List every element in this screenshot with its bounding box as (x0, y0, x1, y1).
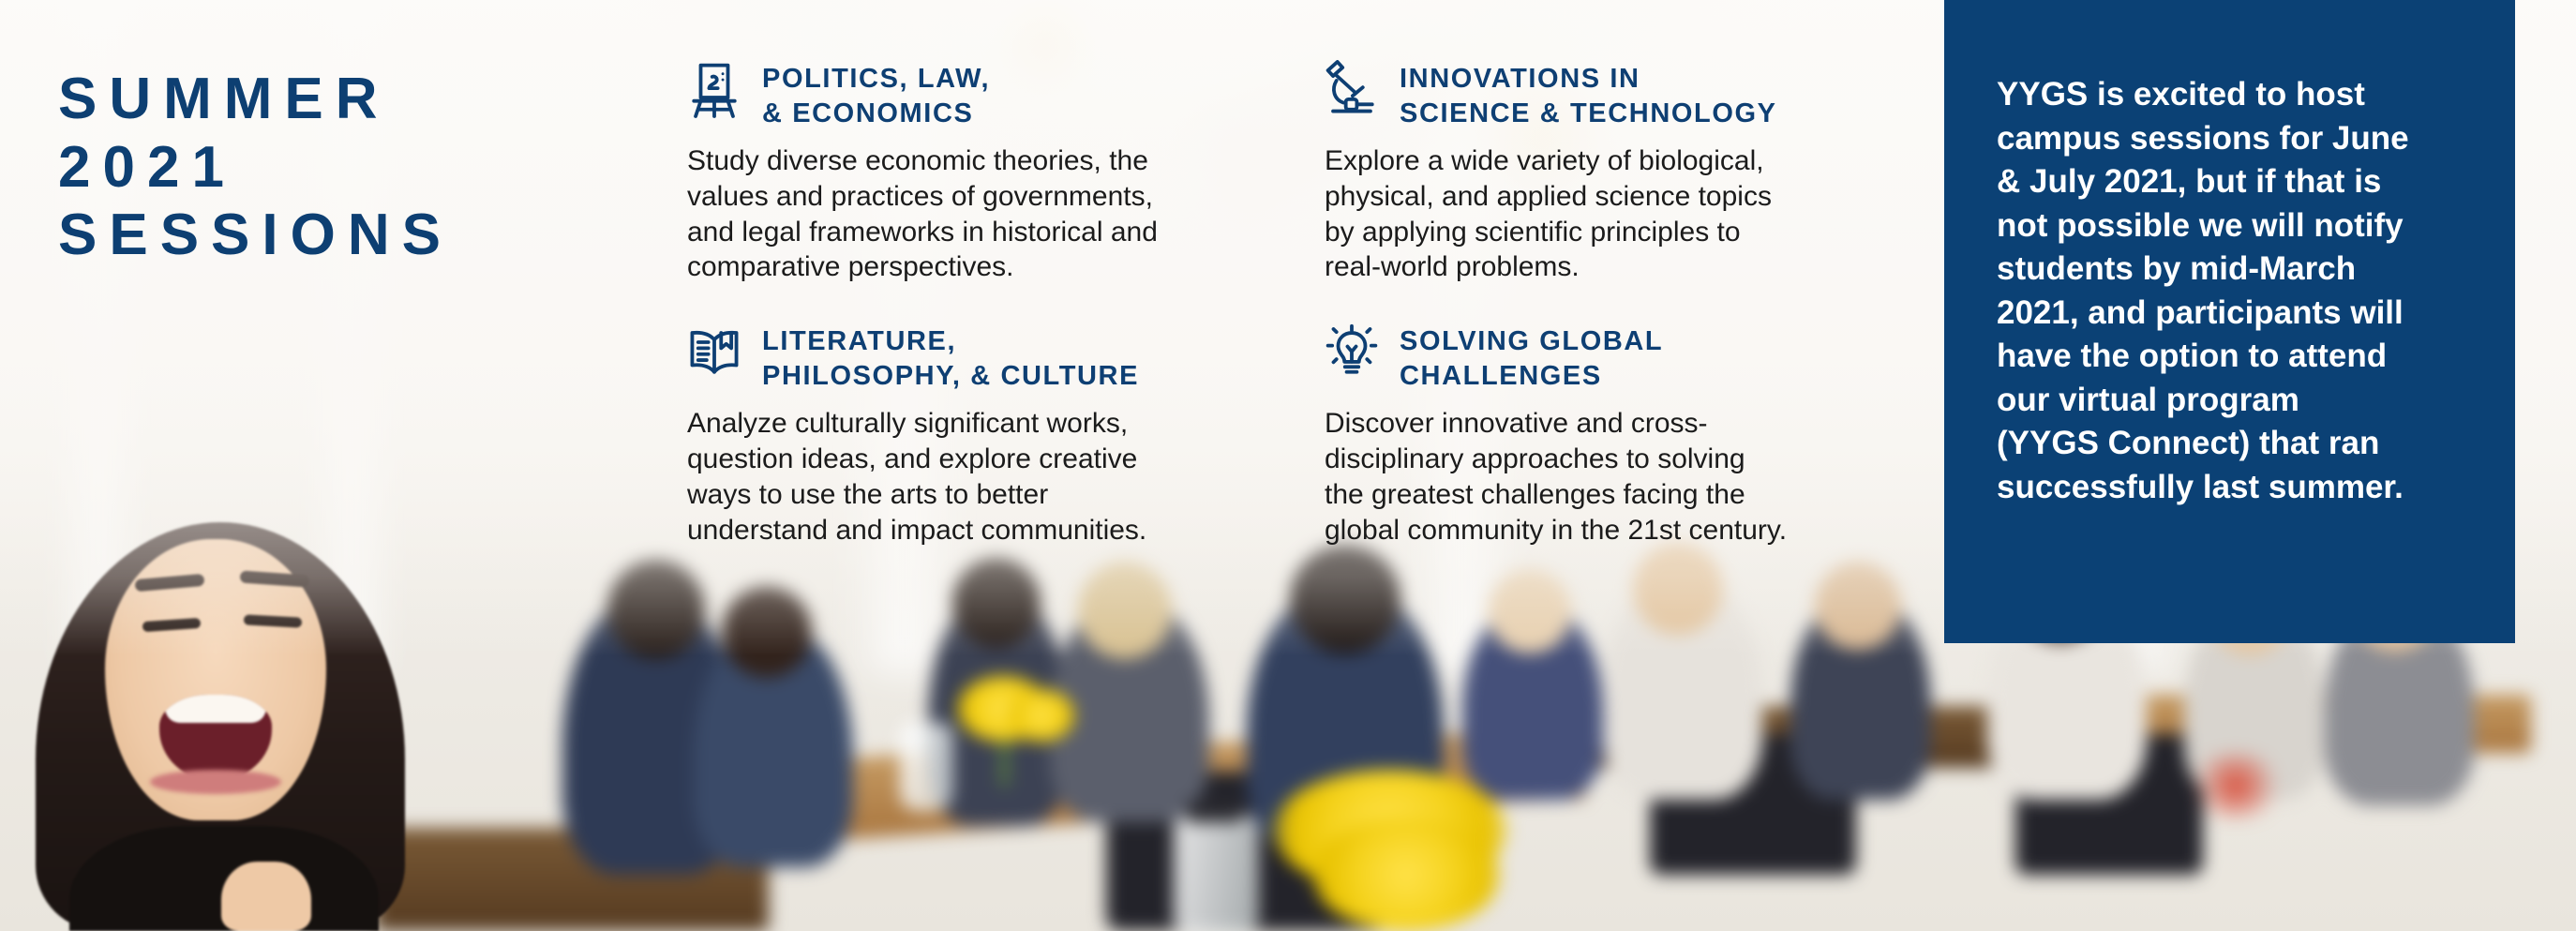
page-title: SUMMER 2021 SESSIONS (58, 66, 621, 270)
notice-line: not possible we will notify (1997, 204, 2466, 248)
card-title: POLITICS, LAW, & ECONOMICS (762, 58, 990, 130)
card-header: POLITICS, LAW, & ECONOMICS (687, 58, 1268, 130)
easel-icon (687, 60, 741, 118)
session-card-innovations-science-technology: INNOVATIONS IN SCIENCE & TECHNOLOGY Expl… (1325, 58, 1906, 285)
summer-sessions-banner: SUMMER 2021 SESSIONS (0, 0, 2576, 931)
card-body-line: and legal frameworks in historical and (687, 215, 1268, 250)
notice-line: students by mid-March (1997, 248, 2466, 292)
card-body-line: global community in the 21st century. (1325, 513, 1906, 548)
notice-line: successfully last summer. (1997, 466, 2466, 510)
card-title-line-2: CHALLENGES (1400, 359, 1663, 394)
card-description: Discover innovative and cross- disciplin… (1325, 406, 1906, 548)
card-body-line: understand and impact communities. (687, 513, 1268, 548)
notice-line: & July 2021, but if that is (1997, 160, 2466, 204)
card-body-line: disciplinary approaches to solving (1325, 442, 1906, 477)
card-header: LITERATURE, PHILOSOPHY, & CULTURE (687, 321, 1268, 393)
card-description: Analyze culturally significant works, qu… (687, 406, 1268, 548)
card-body-line: values and practices of governments, (687, 179, 1268, 215)
notice-line: our virtual program (1997, 379, 2466, 423)
card-body-line: Explore a wide variety of biological, (1325, 143, 1906, 179)
session-card-literature-philosophy-culture: LITERATURE, PHILOSOPHY, & CULTURE Analyz… (687, 321, 1268, 548)
card-title: SOLVING GLOBAL CHALLENGES (1400, 321, 1663, 393)
card-body-line: physical, and applied science topics (1325, 179, 1906, 215)
lightbulb-icon (1325, 323, 1379, 381)
notice-line: have the option to attend (1997, 335, 2466, 379)
card-body-line: Analyze culturally significant works, (687, 406, 1268, 442)
card-title-line-2: & ECONOMICS (762, 97, 990, 131)
notice-line: campus sessions for June (1997, 117, 2466, 161)
card-title-line-2: PHILOSOPHY, & CULTURE (762, 359, 1139, 394)
card-body-line: Study diverse economic theories, the (687, 143, 1268, 179)
banner-content: SUMMER 2021 SESSIONS (0, 0, 2576, 931)
notice-line: 2021, and participants will (1997, 292, 2466, 336)
session-column-2: INNOVATIONS IN SCIENCE & TECHNOLOGY Expl… (1325, 58, 1906, 584)
card-title-line-1: INNOVATIONS IN (1400, 62, 1777, 97)
card-header: SOLVING GLOBAL CHALLENGES (1325, 321, 1906, 393)
notice-panel: YYGS is excited to host campus sessions … (1944, 0, 2515, 643)
notice-text: YYGS is excited to host campus sessions … (1997, 73, 2466, 509)
card-title-line-1: POLITICS, LAW, (762, 62, 990, 97)
card-description: Study diverse economic theories, the val… (687, 143, 1268, 285)
card-body-line: by applying scientific principles to (1325, 215, 1906, 250)
card-title: INNOVATIONS IN SCIENCE & TECHNOLOGY (1400, 58, 1777, 130)
title-line-3: SESSIONS (58, 202, 621, 270)
session-card-politics-law-economics: POLITICS, LAW, & ECONOMICS Study diverse… (687, 58, 1268, 285)
notice-line: (YYGS Connect) that ran (1997, 422, 2466, 466)
card-title: LITERATURE, PHILOSOPHY, & CULTURE (762, 321, 1139, 393)
microscope-icon (1325, 60, 1379, 118)
card-body-line: real-world problems. (1325, 249, 1906, 285)
title-line-2: 2021 (58, 134, 621, 203)
notice-line: YYGS is excited to host (1997, 73, 2466, 117)
card-body-line: comparative perspectives. (687, 249, 1268, 285)
title-line-1: SUMMER (58, 66, 621, 134)
card-body-line: question ideas, and explore creative (687, 442, 1268, 477)
card-title-line-1: SOLVING GLOBAL (1400, 324, 1663, 359)
card-body-line: Discover innovative and cross- (1325, 406, 1906, 442)
card-body-line: ways to use the arts to better (687, 477, 1268, 513)
card-title-line-2: SCIENCE & TECHNOLOGY (1400, 97, 1777, 131)
session-column-1: POLITICS, LAW, & ECONOMICS Study diverse… (687, 58, 1268, 584)
card-title-line-1: LITERATURE, (762, 324, 1139, 359)
session-card-solving-global-challenges: SOLVING GLOBAL CHALLENGES Discover innov… (1325, 321, 1906, 548)
card-header: INNOVATIONS IN SCIENCE & TECHNOLOGY (1325, 58, 1906, 130)
card-body-line: the greatest challenges facing the (1325, 477, 1906, 513)
open-book-icon (687, 323, 741, 381)
card-description: Explore a wide variety of biological, ph… (1325, 143, 1906, 285)
